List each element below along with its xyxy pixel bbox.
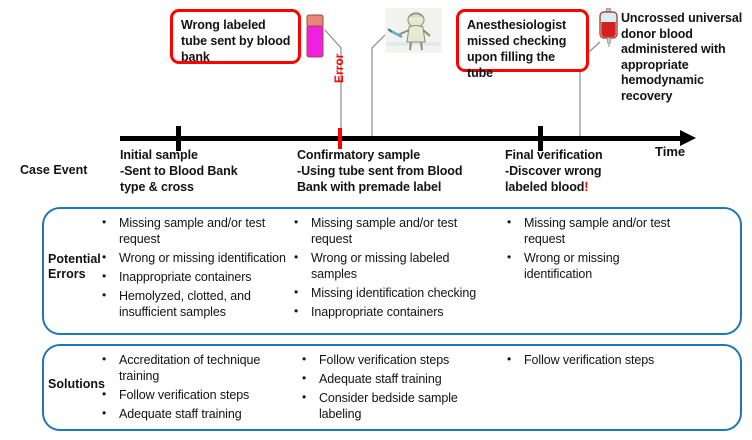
row-label-case-event-text: Case Event — [20, 163, 87, 177]
list-item: Missing sample and/or test request — [292, 215, 497, 247]
list-item: Follow verification steps — [505, 352, 695, 368]
timeline-event-initial-sample-line2: type & cross — [120, 179, 290, 195]
list-item: Hemolyzed, clotted, and insufficient sam… — [100, 288, 290, 320]
list-item: Wrong or missing identification — [100, 250, 290, 266]
timeline-event-final-verification-line1: -Discover wrong — [505, 163, 665, 179]
row-label-case-event: Case Event — [20, 163, 87, 177]
leader-line-anesthesiologist — [372, 34, 386, 138]
timeline-event-final-verification-line2-text: labeled blood — [505, 180, 584, 194]
timeline-event-final-verification-exclamation: ! — [584, 180, 588, 194]
list-item: Adequate staff training — [100, 406, 290, 422]
list-item: Inappropriate containers — [100, 269, 290, 285]
list-item: Accreditation of technique training — [100, 352, 290, 384]
timeline-event-confirmatory-sample: Confirmatory sample -Using tube sent fro… — [297, 147, 497, 195]
timeline-axis — [120, 136, 682, 141]
error-marker-label: Error — [333, 54, 345, 83]
list-item: Missing identification checking — [292, 285, 497, 301]
timeline-event-initial-sample-line1: -Sent to Blood Bank — [120, 163, 290, 179]
callout-anesthesiologist-text: Anesthesiologist missed checking upon fi… — [467, 18, 566, 80]
timeline-event-confirmatory-sample-line1: -Using tube sent from Blood — [297, 163, 497, 179]
blood-bag-annotation: Uncrossed universal donor blood administ… — [621, 11, 747, 104]
callout-anesthesiologist-missed-checking: Anesthesiologist missed checking upon fi… — [456, 9, 589, 72]
callout-wrong-labeled-tube: Wrong labeled tube sent by blood bank — [170, 9, 301, 64]
list-item: Follow verification steps — [100, 387, 290, 403]
anesthesiologist-clipart-icon — [385, 8, 442, 53]
list-item: Wrong or missing labeled samples — [292, 250, 497, 282]
solutions-column-final-verification: Follow verification steps — [505, 352, 695, 371]
list-item: Consider bedside sample labeling — [300, 390, 500, 422]
errors-column-confirmatory-sample: Missing sample and/or test request Wrong… — [292, 215, 497, 323]
blood-bag-annotation-text: Uncrossed universal donor blood administ… — [621, 11, 742, 103]
timeline-event-initial-sample-title: Initial sample — [120, 147, 290, 163]
list-item: Wrong or missing identification — [505, 250, 685, 282]
list-item: Follow verification steps — [300, 352, 500, 368]
list-item: Inappropriate containers — [292, 304, 497, 320]
timeline-event-confirmatory-sample-title: Confirmatory sample — [297, 147, 497, 163]
list-item: Adequate staff training — [300, 371, 500, 387]
timeline-event-final-verification-line2: labeled blood! — [505, 179, 665, 195]
callout-wrong-labeled-tube-text: Wrong labeled tube sent by blood bank — [181, 18, 290, 64]
leader-line-tube — [325, 30, 341, 138]
errors-column-initial-sample: Missing sample and/or test request Wrong… — [100, 215, 290, 323]
list-item: Missing sample and/or test request — [100, 215, 290, 247]
timeline-event-initial-sample: Initial sample -Sent to Blood Bank type … — [120, 147, 290, 195]
timeline-event-final-verification: Final verification -Discover wrong label… — [505, 147, 665, 195]
blood-collection-tube-icon — [306, 14, 324, 58]
error-marker-label-text: Error — [332, 54, 346, 83]
list-item: Missing sample and/or test request — [505, 215, 685, 247]
solutions-column-confirmatory-sample: Follow verification steps Adequate staff… — [300, 352, 500, 425]
timeline-event-final-verification-title: Final verification — [505, 147, 665, 163]
errors-column-final-verification: Missing sample and/or test request Wrong… — [505, 215, 685, 285]
solutions-column-initial-sample: Accreditation of technique training Foll… — [100, 352, 290, 425]
timeline-tick-error-red — [338, 128, 342, 149]
timeline-infographic: Wrong labeled tube sent by blood bank — [0, 0, 752, 440]
timeline-event-confirmatory-sample-line2: Bank with premade label — [297, 179, 497, 195]
blood-bag-icon — [598, 8, 620, 48]
